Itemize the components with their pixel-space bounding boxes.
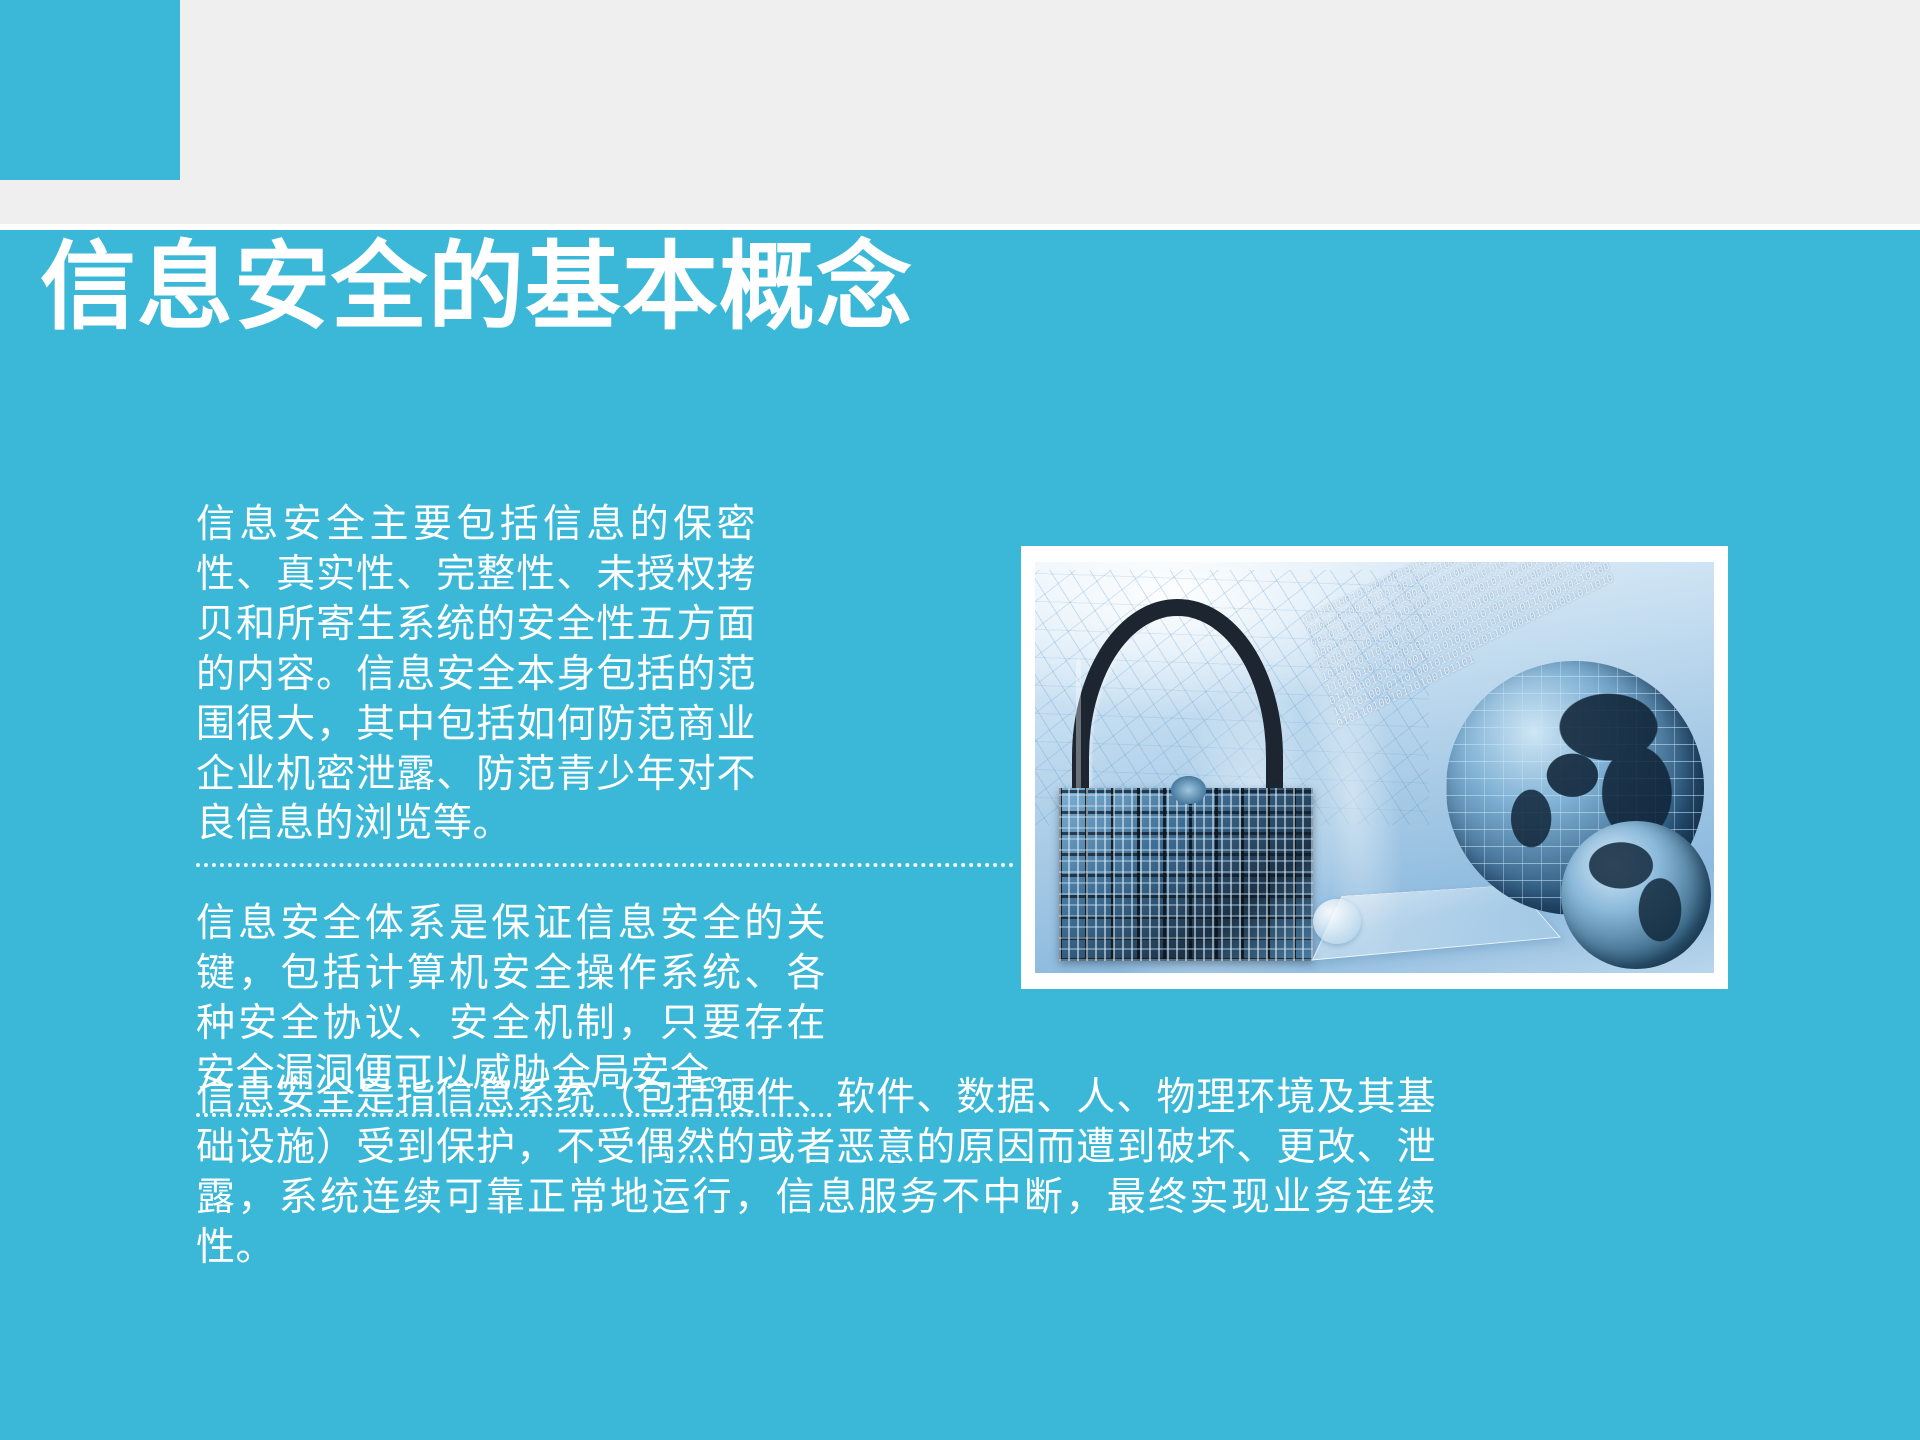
globe-secondary-icon	[1561, 821, 1710, 969]
header-divider	[0, 224, 1920, 230]
paragraph-2: 信息安全体系是保证信息安全的关键，包括计算机安全操作系统、各种安全协议、安全机制…	[196, 884, 826, 1099]
body-wide-block: 信息安全是指信息系统（包括硬件、软件、数据、人、物理环境及其基础设施）受到保护，…	[196, 1073, 1796, 1273]
body-column: 信息安全主要包括信息的保密性、真实性、完整性、未授权拷贝和所寄生系统的安全性五方…	[196, 500, 1022, 1117]
paragraph-1: 信息安全主要包括信息的保密性、真实性、完整性、未授权拷贝和所寄生系统的安全性五方…	[196, 500, 756, 849]
header-accent-block	[0, 0, 180, 180]
paragraph-3: 信息安全是指信息系统（包括硬件、软件、数据、人、物理环境及其基础设施）受到保护，…	[196, 1073, 1436, 1273]
security-illustration-image: 1011010010110100101101001011010010110100…	[1035, 562, 1714, 973]
padlock-circuit-body-icon	[1059, 788, 1314, 961]
water-drop	[1313, 899, 1361, 944]
picture-frame: 1011010010110100101101001011010010110100…	[1021, 546, 1728, 989]
page-title: 信息安全的基本概念	[40, 238, 1540, 339]
dotted-separator-1	[196, 863, 1014, 867]
header-band	[0, 0, 1920, 224]
slide: 信息安全的基本概念 信息安全主要包括信息的保密性、真实性、完整性、未授权拷贝和所…	[0, 0, 1920, 1440]
